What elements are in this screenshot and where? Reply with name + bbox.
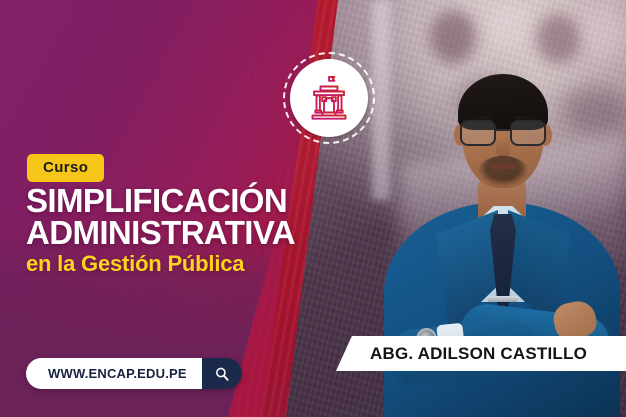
website-url: WWW.ENCAP.EDU.PE xyxy=(26,358,202,389)
course-promo-banner: Curso SIMPLIFICACIÓN ADMINISTRATIVA en l… xyxy=(0,0,626,417)
glasses-bridge xyxy=(496,129,510,131)
government-building-icon xyxy=(303,72,355,124)
presenter-mouth xyxy=(490,164,516,169)
search-icon xyxy=(214,366,230,382)
search-button[interactable] xyxy=(202,358,242,389)
speaker-banner: ABG. ADILSON CASTILLO xyxy=(336,336,626,371)
headline-line-2: ADMINISTRATIVA xyxy=(26,217,326,249)
course-badge: Curso xyxy=(27,154,104,182)
presenter-nose xyxy=(496,138,510,158)
presenter-beard xyxy=(478,156,528,186)
presenter-tie-clip xyxy=(488,296,518,302)
headline-line-1: SIMPLIFICACIÓN xyxy=(26,185,326,217)
headline: SIMPLIFICACIÓN ADMINISTRATIVA xyxy=(26,185,326,249)
speaker-name: ABG. ADILSON CASTILLO xyxy=(370,344,587,364)
glasses-lens-left xyxy=(460,120,496,146)
subheadline: en la Gestión Pública xyxy=(26,251,244,277)
website-pill[interactable]: WWW.ENCAP.EDU.PE xyxy=(26,358,242,389)
glasses-lens-right xyxy=(510,120,546,146)
institution-emblem xyxy=(283,52,375,144)
